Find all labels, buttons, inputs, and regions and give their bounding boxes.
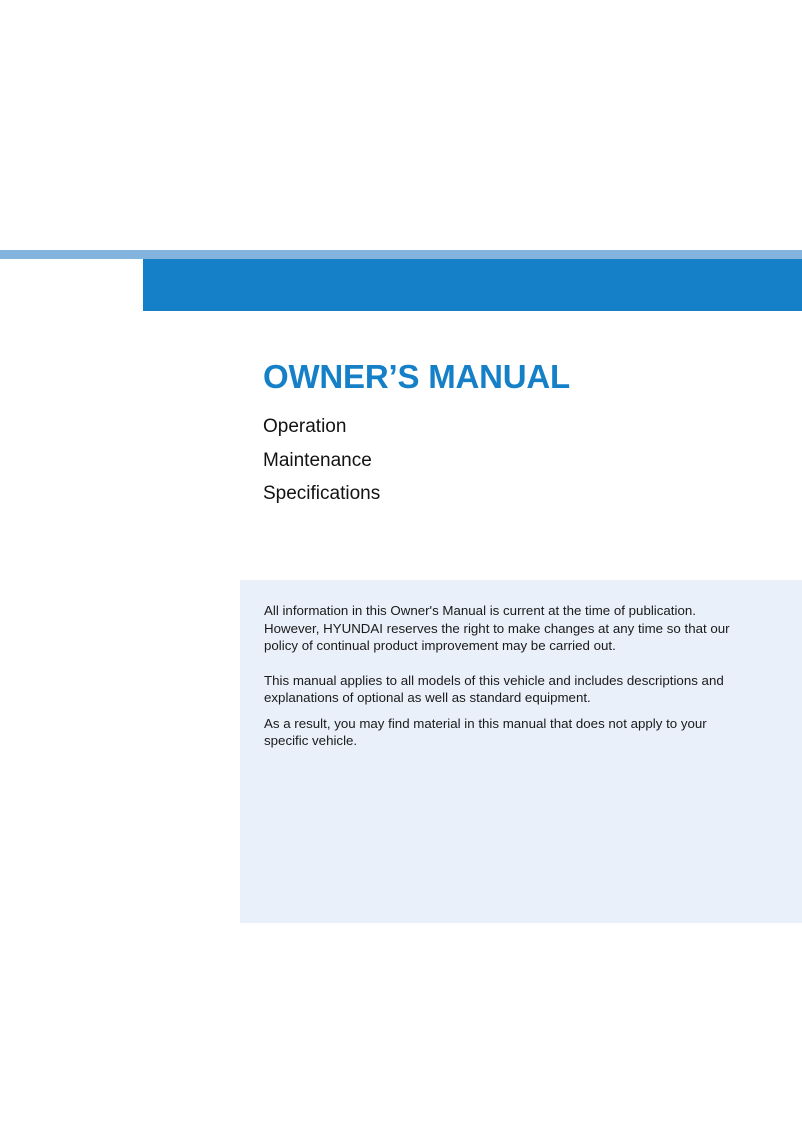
subtitle-item-maintenance: Maintenance [263, 444, 783, 478]
subtitle-list: Operation Maintenance Specifications [263, 410, 783, 511]
subtitle-item-operation: Operation [263, 410, 783, 444]
header-banner [0, 250, 802, 312]
banner-dark-block [143, 259, 802, 311]
banner-light-stripe [0, 250, 802, 259]
title-block: OWNER’S MANUAL Operation Maintenance Spe… [263, 355, 783, 511]
manual-cover-page: OWNER’S MANUAL Operation Maintenance Spe… [0, 0, 802, 1125]
subtitle-item-specifications: Specifications [263, 477, 783, 511]
notice-paragraph-applicability: As a result, you may find material in th… [264, 715, 744, 750]
notice-paragraph-publication: All information in this Owner's Manual i… [264, 602, 744, 655]
notice-box: All information in this Owner's Manual i… [240, 580, 802, 923]
page-title: OWNER’S MANUAL [263, 355, 783, 399]
notice-paragraph-models: This manual applies to all models of thi… [264, 672, 744, 707]
